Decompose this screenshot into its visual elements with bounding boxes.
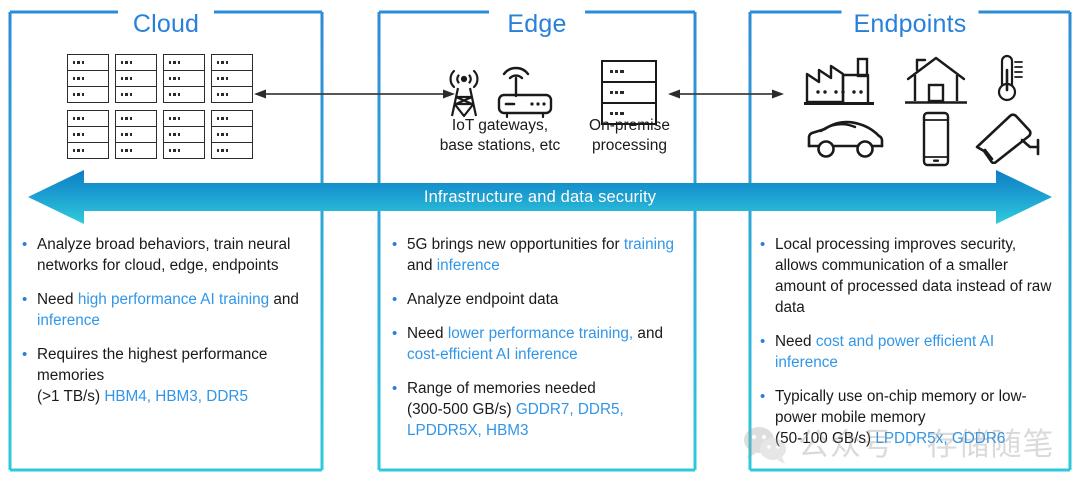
server-rack-icon <box>211 54 253 103</box>
plain-text: Analyze broad behaviors, train neural ne… <box>37 236 290 274</box>
bullet-marker: • <box>392 323 407 365</box>
plain-text: Need <box>37 291 78 308</box>
plain-text: (50-100 GB/s) <box>775 430 875 447</box>
highlight-term: LPDDR5x, GDDR6 <box>875 430 1005 447</box>
bullet-marker: • <box>22 344 37 407</box>
thermometer-icon <box>988 52 1030 106</box>
bullet-item: •Need lower performance training, and co… <box>392 323 688 365</box>
plain-text: Analyze endpoint data <box>407 291 558 308</box>
bullet-text: Range of memories needed(300-500 GB/s) G… <box>407 378 688 441</box>
server-rack-icon <box>67 110 109 159</box>
highlight-term: training <box>624 236 674 253</box>
car-icon <box>805 116 887 160</box>
banner-label: Infrastructure and data security <box>28 170 1052 224</box>
bullet-marker: • <box>760 234 775 318</box>
smartphone-icon <box>918 110 954 168</box>
panel-edge-title: Edge <box>495 9 578 39</box>
server-rack-icon <box>163 110 205 159</box>
bullet-marker: • <box>392 234 407 276</box>
plain-text: Requires the highest performance memorie… <box>37 346 267 384</box>
bullet-marker: • <box>760 331 775 373</box>
highlight-term: high performance AI training <box>78 291 269 308</box>
bullet-text: 5G brings new opportunities for training… <box>407 234 688 276</box>
bullet-text: Need lower performance training, and cos… <box>407 323 688 365</box>
plain-text: (>1 TB/s) <box>37 388 104 405</box>
router-icon <box>492 56 556 118</box>
bullet-item: •Range of memories needed(300-500 GB/s) … <box>392 378 688 441</box>
bullet-marker: • <box>760 386 775 449</box>
bullet-text: Analyze endpoint data <box>407 289 558 310</box>
edge-caption-onpremise-line1: On-premise <box>589 117 670 134</box>
panel-cloud-title: Cloud <box>121 9 211 39</box>
diagram-canvas: Cloud Edge <box>0 0 1080 482</box>
plain-text: Range of memories needed <box>407 380 596 397</box>
bullet-item: •Local processing improves security, all… <box>760 234 1060 318</box>
plain-text: Need <box>407 325 448 342</box>
edge-caption-gateways-line1: IoT gateways, <box>452 117 548 134</box>
highlight-term: HBM4, HBM3, DDR5 <box>104 388 248 405</box>
panel-endpoints-title: Endpoints <box>842 9 979 39</box>
highlight-term: cost-efficient AI inference <box>407 346 578 363</box>
infrastructure-security-banner: Infrastructure and data security <box>28 170 1052 224</box>
plain-text: and <box>633 325 663 342</box>
bullet-item: •5G brings new opportunities for trainin… <box>392 234 688 276</box>
bullet-text: Analyze broad behaviors, train neural ne… <box>37 234 312 276</box>
bullet-item: •Requires the highest performance memori… <box>22 344 312 407</box>
bullet-marker: • <box>392 289 407 310</box>
server-rack-icon <box>67 54 109 103</box>
bullet-item: •Need high performance AI training and i… <box>22 289 312 331</box>
server-rack-icon <box>163 54 205 103</box>
highlight-term: lower performance training, <box>448 325 633 342</box>
bullet-text: Typically use on-chip memory or low-powe… <box>775 386 1060 449</box>
connector-cloud-edge <box>252 84 457 104</box>
bullet-item: •Analyze broad behaviors, train neural n… <box>22 234 312 276</box>
edge-caption-onpremise: On-premise processing <box>547 116 712 156</box>
server-rack-icon <box>211 110 253 159</box>
bullets-endpoints: •Local processing improves security, all… <box>760 234 1060 462</box>
bullet-text: Need high performance AI training and in… <box>37 289 312 331</box>
bullets-edge: •5G brings new opportunities for trainin… <box>392 234 688 454</box>
edge-caption-onpremise-line2: processing <box>592 137 667 154</box>
plain-text: 5G brings new opportunities for <box>407 236 624 253</box>
plain-text: Typically use on-chip memory or low-powe… <box>775 388 1027 426</box>
house-icon <box>905 54 967 106</box>
bullet-item: •Need cost and power efficient AI infere… <box>760 331 1060 373</box>
bullet-text: Need cost and power efficient AI inferen… <box>775 331 1060 373</box>
cloud-server-rack-group <box>67 54 253 159</box>
bullet-text: Local processing improves security, allo… <box>775 234 1060 318</box>
connector-edge-endpoints <box>666 84 786 104</box>
plain-text: (300-500 GB/s) <box>407 401 516 418</box>
highlight-term: inference <box>37 312 100 329</box>
bullets-cloud: •Analyze broad behaviors, train neural n… <box>22 234 312 420</box>
plain-text: and <box>269 291 299 308</box>
security-camera-icon <box>972 112 1044 164</box>
factory-icon <box>804 56 880 106</box>
server-rack-icon <box>115 54 157 103</box>
bullet-marker: • <box>22 289 37 331</box>
bullet-item: •Typically use on-chip memory or low-pow… <box>760 386 1060 449</box>
plain-text: Local processing improves security, allo… <box>775 236 1051 316</box>
bullet-marker: • <box>22 234 37 276</box>
bullet-text: Requires the highest performance memorie… <box>37 344 312 407</box>
server-rack-icon <box>115 110 157 159</box>
bullet-item: •Analyze endpoint data <box>392 289 688 310</box>
plain-text: Need <box>775 333 816 350</box>
plain-text: and <box>407 257 437 274</box>
bullet-marker: • <box>392 378 407 441</box>
highlight-term: inference <box>437 257 500 274</box>
edge-caption-gateways-line2: base stations, etc <box>440 137 561 154</box>
